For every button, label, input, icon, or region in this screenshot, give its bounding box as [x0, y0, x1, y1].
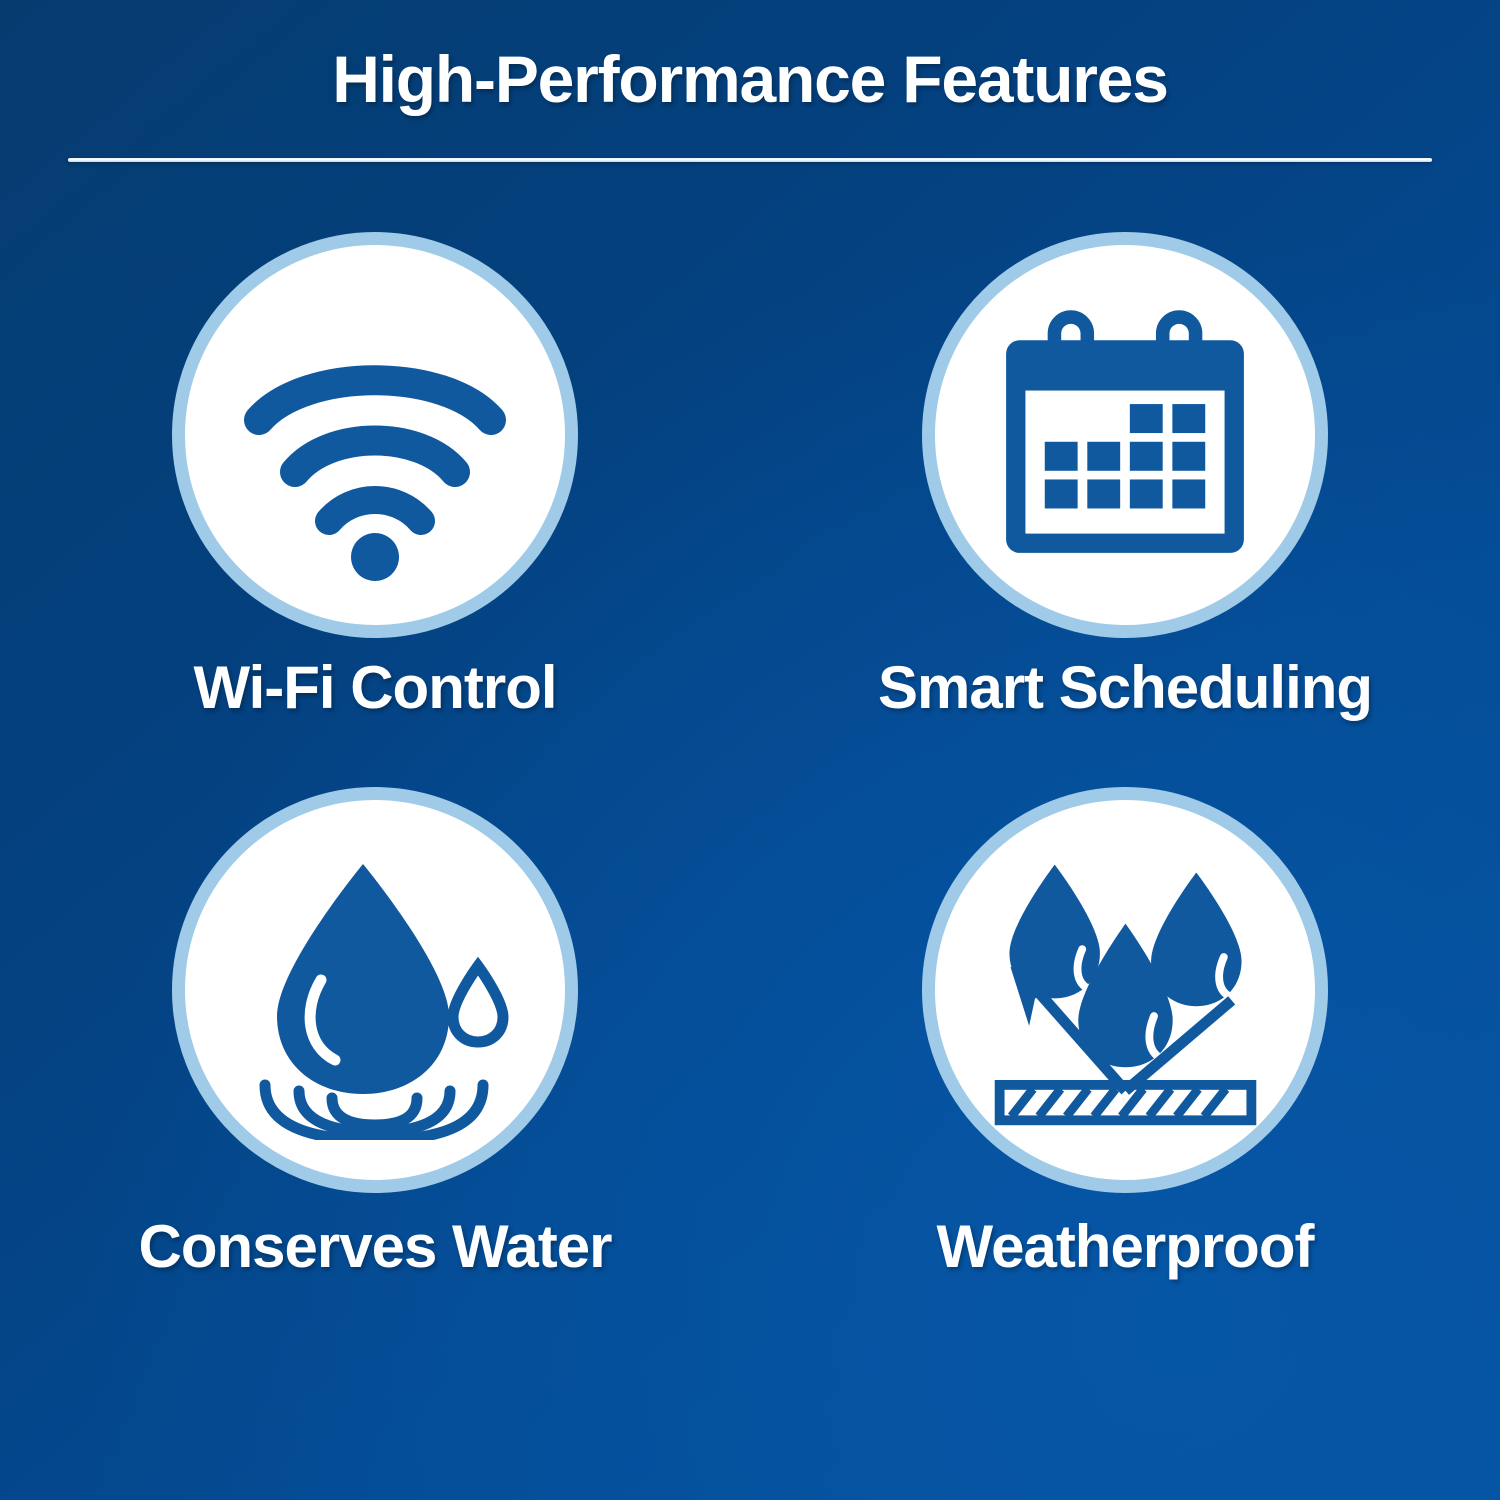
poster-header: High-Performance Features: [0, 0, 1500, 190]
feature-card-weatherproof: Weatherproof: [750, 760, 1500, 1315]
feature-label-weatherproof: Weatherproof: [937, 1217, 1314, 1277]
page-title: High-Performance Features: [0, 46, 1500, 112]
feature-label-conserves-water: Conserves Water: [139, 1217, 612, 1277]
feature-label-smart-scheduling: Smart Scheduling: [878, 658, 1372, 718]
water-drop-ripple-icon: [225, 840, 525, 1140]
title-divider: [68, 158, 1432, 162]
feature-card-smart-scheduling: Smart Scheduling: [750, 205, 1500, 760]
features-grid: Wi-Fi Control: [0, 205, 1500, 1465]
feature-card-conserves-water: Conserves Water: [0, 760, 750, 1315]
water-repellent-surface-icon-badge: [922, 787, 1328, 1193]
feature-card-wifi-control: Wi-Fi Control: [0, 205, 750, 760]
wifi-icon: [225, 285, 525, 585]
calendar-icon-badge: [922, 232, 1328, 638]
water-drop-ripple-icon-badge: [172, 787, 578, 1193]
water-repellent-surface-icon: [978, 843, 1273, 1138]
feature-label-wifi-control: Wi-Fi Control: [193, 658, 556, 718]
calendar-icon: [980, 290, 1270, 580]
feature-poster: High-Performance Features Wi-Fi C: [0, 0, 1500, 1500]
wifi-icon-badge: [172, 232, 578, 638]
